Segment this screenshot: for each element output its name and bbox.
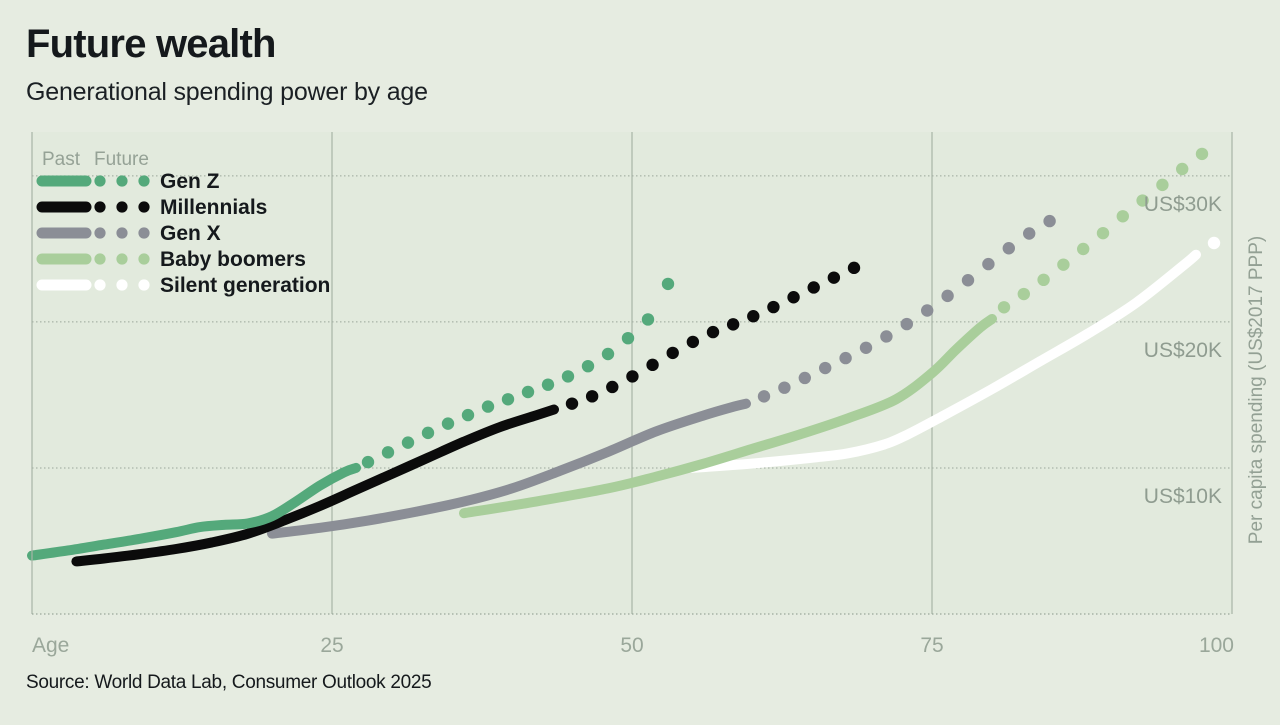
future-dot: [626, 370, 638, 382]
y-tick-label: US$20K: [1144, 339, 1222, 362]
future-dot: [582, 360, 594, 372]
future-dot: [828, 271, 840, 283]
future-dot: [1023, 227, 1035, 239]
future-dot: [982, 258, 994, 270]
future-dot: [502, 393, 514, 405]
future-dot: [622, 332, 634, 344]
legend-label: Gen Z: [160, 170, 220, 193]
future-dot: [422, 427, 434, 439]
future-dot: [542, 378, 554, 390]
x-tick-label: 50: [620, 634, 643, 657]
y-axis-title: Per capita spending (US$2017 PPP): [1246, 236, 1267, 544]
legend-label: Millennials: [160, 196, 267, 219]
legend-future-dot: [94, 253, 105, 264]
future-dot: [667, 347, 679, 359]
future-dot: [839, 352, 851, 364]
future-dot: [901, 318, 913, 330]
future-dot: [778, 381, 790, 393]
legend-future-dot: [116, 175, 127, 186]
x-tick-label: 75: [920, 634, 943, 657]
future-dot: [442, 417, 454, 429]
future-dot: [522, 386, 534, 398]
future-dot: [998, 301, 1010, 313]
future-dot: [402, 436, 414, 448]
future-dot: [1156, 179, 1168, 191]
future-dot: [1077, 243, 1089, 255]
future-dot: [662, 278, 674, 290]
future-dot: [962, 274, 974, 286]
legend-label: Baby boomers: [160, 248, 306, 271]
future-dot: [562, 370, 574, 382]
legend-label: Gen X: [160, 222, 221, 245]
legend-future-dot: [116, 201, 127, 212]
future-dot: [880, 330, 892, 342]
future-dot: [860, 342, 872, 354]
chart-page: Future wealth Generational spending powe…: [0, 0, 1280, 725]
future-dot: [1097, 227, 1109, 239]
future-dot: [727, 318, 739, 330]
legend-header-past: Past: [42, 149, 81, 170]
future-dot: [462, 409, 474, 421]
future-dot: [1208, 237, 1220, 249]
legend-future-dot: [138, 227, 149, 238]
future-dot: [1043, 215, 1055, 227]
legend-future-dot: [94, 175, 105, 186]
future-dot: [482, 400, 494, 412]
future-dot: [1176, 163, 1188, 175]
future-dot: [1003, 242, 1015, 254]
source-note: Source: World Data Lab, Consumer Outlook…: [26, 672, 431, 694]
y-tick-label: US$10K: [1144, 485, 1222, 508]
legend-future-dot: [116, 279, 127, 290]
future-dot: [382, 446, 394, 458]
future-dot: [1037, 274, 1049, 286]
future-dot: [1117, 210, 1129, 222]
future-dot: [646, 359, 658, 371]
future-dot: [566, 397, 578, 409]
x-tick-label: 100: [1199, 634, 1234, 657]
legend-label: Silent generation: [160, 274, 330, 297]
future-dot: [642, 313, 654, 325]
future-dot: [606, 381, 618, 393]
future-dot: [941, 290, 953, 302]
legend-future-dot: [138, 201, 149, 212]
legend-future-dot: [94, 201, 105, 212]
future-dot: [921, 304, 933, 316]
future-dot: [799, 372, 811, 384]
future-dot: [707, 326, 719, 338]
future-dot: [848, 262, 860, 274]
future-dot: [1018, 288, 1030, 300]
legend-future-dot: [138, 253, 149, 264]
future-dot: [819, 362, 831, 374]
legend-future-dot: [94, 279, 105, 290]
legend-header-future: Future: [94, 149, 149, 170]
legend-future-dot: [138, 279, 149, 290]
future-dot: [1196, 148, 1208, 160]
legend-future-dot: [116, 227, 127, 238]
y-tick-label: US$30K: [1144, 193, 1222, 216]
x-axis-title: Age: [32, 634, 69, 657]
legend-future-dot: [138, 175, 149, 186]
legend-future-dot: [94, 227, 105, 238]
future-dot: [747, 310, 759, 322]
future-dot: [602, 348, 614, 360]
legend-future-dot: [116, 253, 127, 264]
chart-svg: 255075100AgeUS$10KUS$20KUS$30K PastFutur…: [0, 0, 1280, 725]
x-tick-label: 25: [320, 634, 343, 657]
future-dot: [362, 456, 374, 468]
future-dot: [808, 281, 820, 293]
future-dot: [787, 291, 799, 303]
future-dot: [1057, 258, 1069, 270]
future-dot: [767, 301, 779, 313]
future-dot: [687, 336, 699, 348]
future-dot: [758, 390, 770, 402]
future-dot: [586, 390, 598, 402]
